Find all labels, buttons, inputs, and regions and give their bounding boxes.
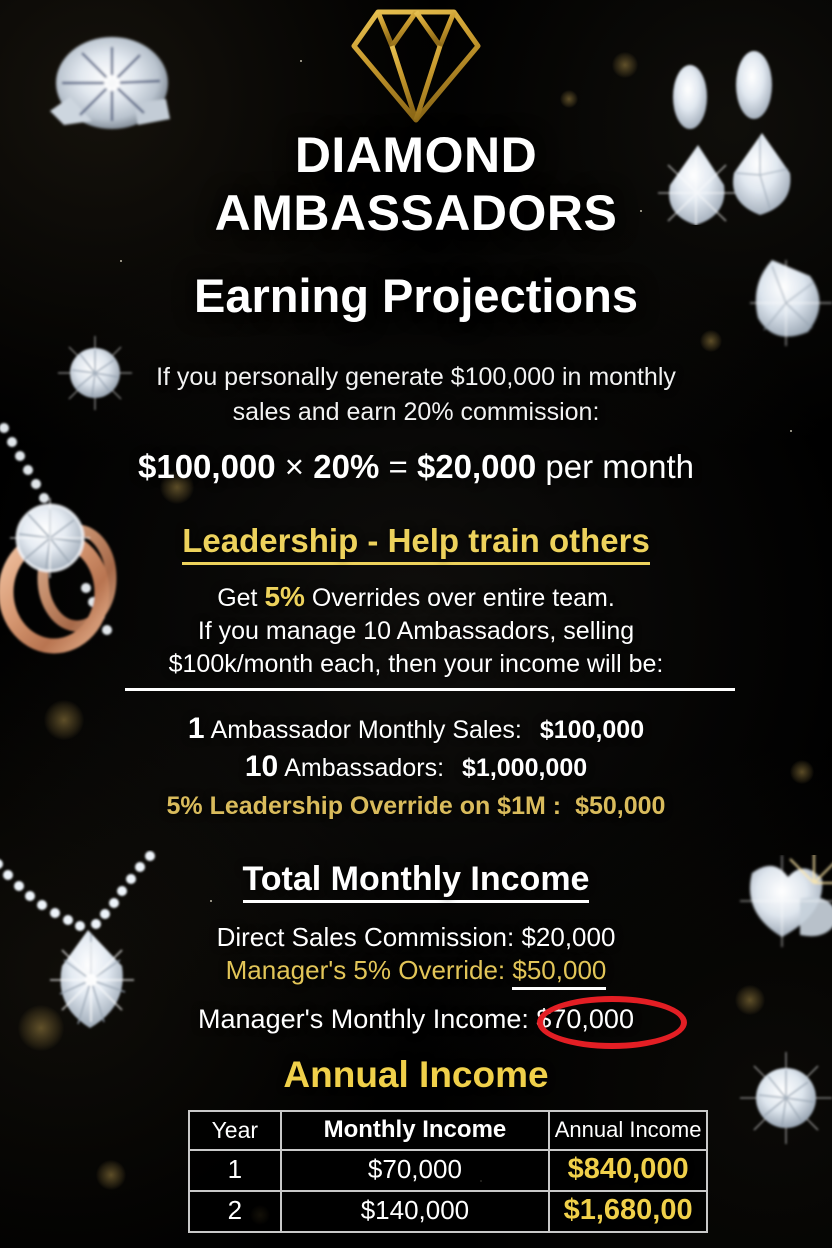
- divider-rule: [125, 688, 735, 691]
- cell-monthly: $70,000: [281, 1150, 550, 1191]
- formula-period: per month: [545, 448, 694, 485]
- formula-result: $20,000: [417, 448, 536, 485]
- table-row: 1 $70,000 $840,000: [189, 1150, 707, 1191]
- column-header-year: Year: [189, 1111, 281, 1150]
- diamond-gem-icon: [348, 4, 484, 126]
- manager-override-amount: $50,000: [512, 955, 606, 990]
- leadership-line-1-pre: Get: [217, 584, 257, 612]
- cell-annual: $1,680,00: [549, 1191, 707, 1232]
- manager-income-label: Manager's Monthly Income:: [198, 1004, 529, 1034]
- cell-monthly: $140,000: [281, 1191, 550, 1232]
- leadership-line-1: Get 5% Overrides over entire team.: [0, 580, 832, 615]
- formula-equals: =: [388, 448, 407, 485]
- calc-amount: $1,000,000: [462, 754, 587, 783]
- calc-count: 10: [245, 750, 278, 784]
- cell-annual: $840,000: [549, 1150, 707, 1191]
- leadership-body: Get 5% Overrides over entire team. If yo…: [0, 580, 832, 681]
- formula-rate: 20%: [313, 448, 379, 485]
- column-header-monthly-income: Monthly Income: [281, 1111, 550, 1150]
- override-label: 5% Leadership Override on $1M :: [167, 792, 562, 821]
- override-amount: $50,000: [575, 792, 665, 821]
- page-subtitle: Earning Projections: [0, 268, 832, 323]
- page-title: DIAMOND AMBASSADORS: [0, 126, 832, 242]
- calc-amount: $100,000: [540, 716, 644, 745]
- calc-row-leadership-override: 5% Leadership Override on $1M : $50,000: [0, 792, 832, 821]
- annual-income-table: Year Monthly Income Annual Income 1 $70,…: [188, 1110, 708, 1233]
- leadership-line-1-post: Overrides over entire team.: [312, 584, 615, 612]
- calc-label: Ambassador Monthly Sales:: [211, 716, 522, 745]
- total-row-direct-sales: Direct Sales Commission: $20,000: [0, 922, 832, 953]
- leadership-override-percent: 5%: [264, 581, 304, 612]
- manager-override-label: Manager's 5% Override:: [226, 955, 506, 985]
- cell-year: 2: [189, 1191, 281, 1232]
- leadership-heading: Leadership - Help train others: [182, 522, 650, 565]
- column-header-annual-income: Annual Income: [549, 1111, 707, 1150]
- formula-base: $100,000: [138, 448, 276, 485]
- leadership-line-3: $100k/month each, then your income will …: [0, 648, 832, 681]
- title-line-1: DIAMOND: [0, 126, 832, 184]
- logo-container: [0, 4, 832, 131]
- intro-paragraph: If you personally generate $100,000 in m…: [0, 360, 832, 430]
- intro-line-1: If you personally generate $100,000 in m…: [0, 360, 832, 395]
- table-row: 2 $140,000 $1,680,00: [189, 1191, 707, 1232]
- leadership-line-2: If you manage 10 Ambassadors, selling: [0, 615, 832, 648]
- poster-background: DIAMOND AMBASSADORS Earning Projections …: [0, 0, 832, 1248]
- total-income-heading-wrap: Total Monthly Income: [0, 860, 832, 899]
- table-header-row: Year Monthly Income Annual Income: [189, 1111, 707, 1150]
- title-line-2: AMBASSADORS: [0, 184, 832, 242]
- calc-label: Ambassadors:: [284, 754, 444, 783]
- manager-income-amount: $70,000: [536, 1004, 634, 1034]
- annual-income-heading: Annual Income: [0, 1054, 832, 1096]
- calc-count: 1: [188, 712, 205, 746]
- formula-operator: ×: [285, 448, 304, 485]
- commission-formula: $100,000 × 20% = $20,000 per month: [0, 448, 832, 486]
- leadership-heading-wrap: Leadership - Help train others: [0, 522, 832, 560]
- total-row-manager-monthly-income: Manager's Monthly Income: $70,000: [0, 1004, 832, 1035]
- calc-row-ambassador-sales: 1 Ambassador Monthly Sales: $100,000: [0, 712, 832, 746]
- calc-row-ten-ambassadors: 10 Ambassadors: $1,000,000: [0, 750, 832, 784]
- total-row-manager-override: Manager's 5% Override: $50,000: [0, 955, 832, 986]
- direct-sales-label: Direct Sales Commission:: [217, 922, 515, 952]
- intro-line-2: sales and earn 20% commission:: [0, 395, 832, 430]
- cell-year: 1: [189, 1150, 281, 1191]
- direct-sales-amount: $20,000: [521, 922, 615, 952]
- total-income-heading: Total Monthly Income: [243, 860, 590, 903]
